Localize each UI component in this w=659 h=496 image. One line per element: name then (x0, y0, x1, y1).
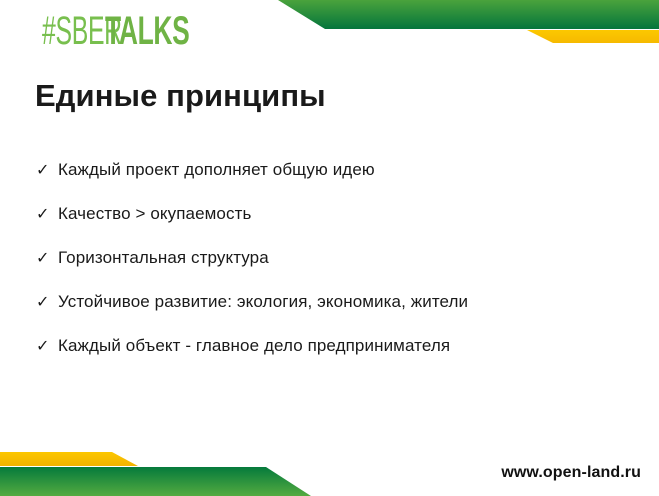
bullet-list: ✓ Каждый проект дополняет общую идею ✓ К… (36, 160, 636, 380)
top-yellow-band (527, 30, 659, 43)
list-item-label: Каждый проект дополняет общую идею (58, 160, 375, 180)
sbertalks-logo: #SBER TALKS (42, 10, 233, 52)
list-item-label: Качество > окупаемость (58, 204, 251, 224)
list-item-label: Горизонтальная структура (58, 248, 269, 268)
slide-canvas: #SBER TALKS Единые принципы ✓ Каждый про… (0, 0, 659, 496)
bottom-green-band (0, 467, 311, 496)
check-icon: ✓ (36, 339, 58, 355)
list-item: ✓ Горизонтальная структура (36, 248, 636, 292)
bottom-yellow-band (0, 452, 138, 466)
check-icon: ✓ (36, 251, 58, 267)
top-green-band (278, 0, 659, 29)
list-item: ✓ Качество > окупаемость (36, 204, 636, 248)
list-item-label: Устойчивое развитие: экология, экономика… (58, 292, 468, 312)
list-item-label: Каждый объект - главное дело предпринима… (58, 336, 450, 356)
check-icon: ✓ (36, 295, 58, 311)
list-item: ✓ Каждый проект дополняет общую идею (36, 160, 636, 204)
list-item: ✓ Каждый объект - главное дело предприни… (36, 336, 636, 380)
logo-bold-text: TALKS (105, 11, 189, 51)
list-item: ✓ Устойчивое развитие: экология, экономи… (36, 292, 636, 336)
check-icon: ✓ (36, 207, 58, 223)
check-icon: ✓ (36, 163, 58, 179)
page-title: Единые принципы (35, 78, 326, 114)
footer-website-url: www.open-land.ru (501, 464, 641, 482)
